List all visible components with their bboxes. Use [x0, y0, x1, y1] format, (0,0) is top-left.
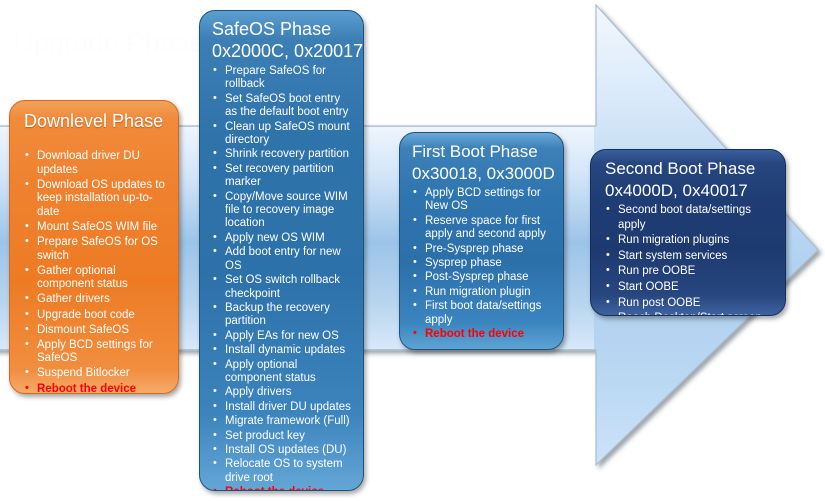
phase-step: Upgrade boot code — [24, 309, 168, 323]
phase-step: Pre-Sysprep phase — [412, 243, 555, 256]
phase-steps-second-boot: Second boot data/settings apply Run migr… — [605, 203, 777, 316]
phase-step: Start OOBE — [605, 280, 777, 295]
phase-step: Prepare SafeOS for rollback — [212, 65, 355, 92]
phase-step: Run migration plugin — [412, 286, 555, 299]
phase-card-second-boot[interactable]: Second Boot Phase 0x4000D, 0x40017 Secon… — [590, 149, 786, 316]
phase-step: Install dynamic updates — [212, 344, 355, 357]
phase-step-reboot: Reboot the device — [412, 328, 555, 341]
phase-step: Reserve space for first apply and second… — [412, 215, 555, 242]
phase-title-second-boot: Second Boot Phase — [605, 158, 777, 179]
phase-step: Install driver DU updates — [212, 401, 355, 414]
phase-card-first-boot[interactable]: First Boot Phase 0x30018, 0x3000D Apply … — [399, 132, 564, 350]
phase-step-reboot: Reboot the device — [24, 383, 168, 395]
phase-step: Prepare SafeOS for OS switch — [24, 236, 168, 263]
phase-step: Run pre OOBE — [605, 264, 777, 279]
phase-step: First boot data/settings apply — [412, 300, 555, 327]
phase-step: Apply BCD settings for New OS — [412, 187, 555, 214]
phase-step: Run post OOBE — [605, 296, 777, 311]
phase-step: Sysprep phase — [412, 257, 555, 270]
phase-title-safeos: SafeOS Phase — [212, 19, 355, 40]
phase-step: Backup the recovery partition — [212, 302, 355, 329]
phase-card-downlevel[interactable]: Downlevel Phase Download driver DU updat… — [9, 100, 179, 394]
phase-step: Apply optional component status — [212, 359, 355, 386]
phase-step: Copy/Move source WIM file to recovery im… — [212, 191, 355, 231]
phase-step: Gather optional component status — [24, 265, 168, 292]
phase-step: Apply drivers — [212, 386, 355, 399]
phase-step: Apply EAs for new OS — [212, 330, 355, 343]
phase-card-body: First Boot Phase 0x30018, 0x3000D Apply … — [400, 133, 563, 349]
phase-step: Second boot data/settings apply — [605, 203, 777, 232]
phase-card-body: SafeOS Phase 0x2000C, 0x20017 Prepare Sa… — [200, 11, 363, 490]
phase-step: Download OS updates to keep installation… — [24, 179, 168, 220]
phase-step: Set OS switch rollback checkpoint — [212, 274, 355, 301]
phase-step: Shrink recovery partition — [212, 148, 355, 161]
phase-step: Migrate framework (Full) — [212, 415, 355, 428]
phase-step: Reach Desktop/Start screen — [605, 311, 777, 316]
phase-step: Gather drivers — [24, 293, 168, 307]
phase-step: Apply new OS WIM — [212, 232, 355, 245]
phase-step: Mount SafeOS WIM file — [24, 221, 168, 235]
phase-step: Set product key — [212, 430, 355, 443]
phase-step: Start system services — [605, 249, 777, 264]
phase-code-first-boot: 0x30018, 0x3000D — [412, 163, 555, 184]
phase-card-body: Downlevel Phase Download driver DU updat… — [10, 101, 178, 393]
phase-step: Dismount SafeOS — [24, 324, 168, 338]
phase-title-first-boot: First Boot Phase — [412, 141, 555, 162]
phase-steps-downlevel: Download driver DU updates Download OS u… — [24, 150, 168, 394]
phase-step: Add boot entry for new OS — [212, 246, 355, 273]
phase-code-safeos: 0x2000C, 0x20017 — [212, 41, 355, 62]
phase-step: Apply BCD settings for SafeOS — [24, 339, 168, 366]
phase-steps-safeos: Prepare SafeOS for rollback Set SafeOS b… — [212, 65, 355, 491]
phase-step: Set SafeOS boot entry as the default boo… — [212, 93, 355, 120]
phase-code-second-boot: 0x4000D, 0x40017 — [605, 180, 777, 201]
phase-step: Run migration plugins — [605, 233, 777, 248]
diagram-watermark-title: Upgrade Phases — [14, 28, 218, 59]
phase-step: Set recovery partition marker — [212, 163, 355, 190]
phase-steps-first-boot: Apply BCD settings for New OS Reserve sp… — [412, 187, 555, 341]
phase-step-reboot: Reboot the device — [212, 486, 355, 491]
phase-title-downlevel: Downlevel Phase — [24, 111, 168, 132]
phase-step: Install OS updates (DU) — [212, 444, 355, 457]
phase-step: Relocate OS to system drive root — [212, 458, 355, 485]
phase-card-safeos[interactable]: SafeOS Phase 0x2000C, 0x20017 Prepare Sa… — [199, 10, 364, 491]
phase-step: Post-Sysprep phase — [412, 271, 555, 284]
phase-step: Download driver DU updates — [24, 150, 168, 177]
phase-step: Suspend Bitlocker — [24, 367, 168, 381]
upgrade-phases-diagram: Upgrade Phases Downlevel Phase Download … — [0, 0, 825, 501]
phase-step: Clean up SafeOS mount directory — [212, 121, 355, 148]
phase-card-body: Second Boot Phase 0x4000D, 0x40017 Secon… — [591, 150, 785, 315]
